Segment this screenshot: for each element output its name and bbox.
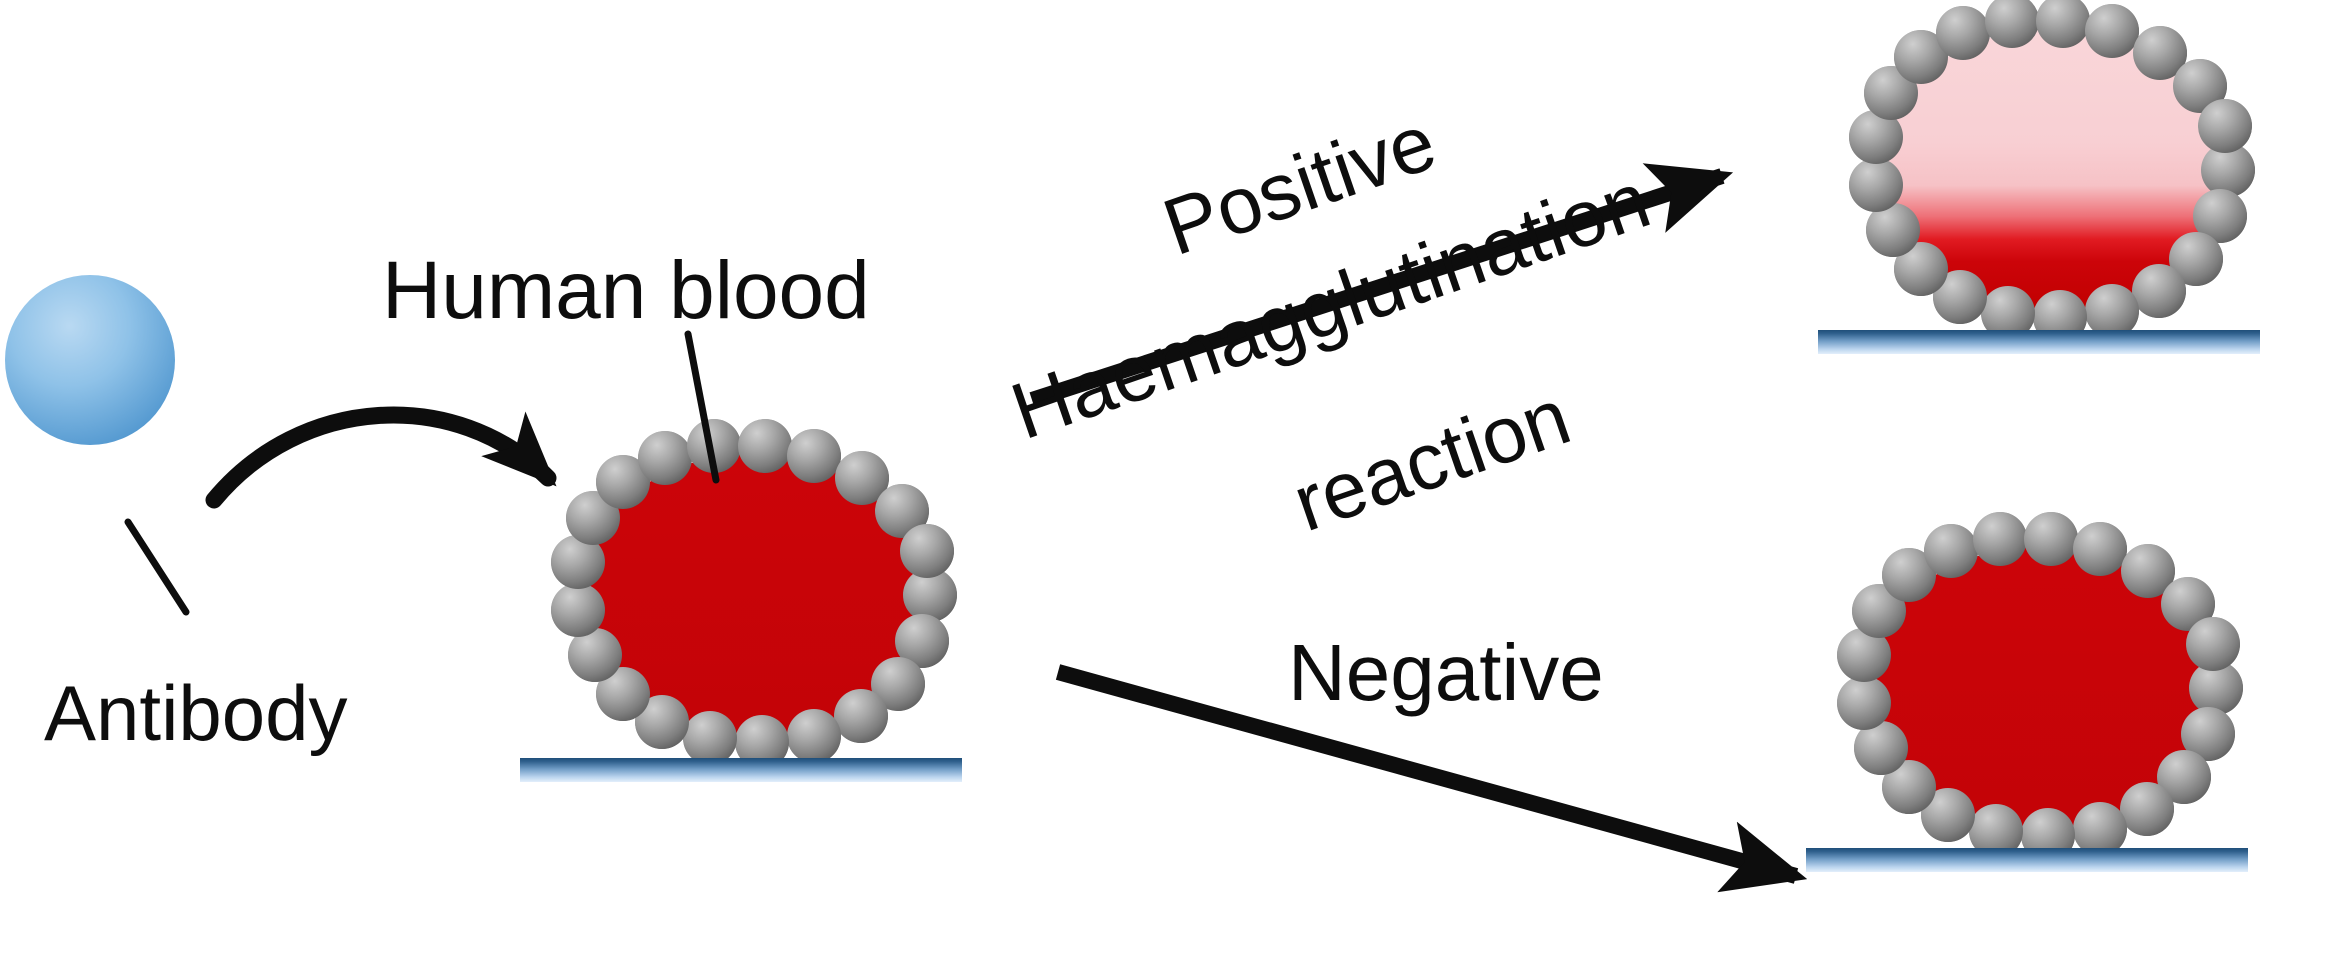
antibody-label: Antibody [44,669,348,757]
haemagglutination-diagram: Antibody [0,0,2341,964]
antibody-group: Antibody [5,275,348,757]
negative-label: Negative [1288,628,1604,717]
figure-canvas: Antibody [0,0,2341,964]
negative-pathway: Negative [1058,628,1796,876]
reaction-label: reaction [1283,371,1581,548]
antibody-leader-line [128,522,186,612]
antibody-particle-icon [5,275,175,445]
human-blood-cell-group: Human blood [382,245,962,782]
glass-slide-negative [1806,848,2248,872]
glass-slide-center [520,758,962,782]
negative-result-group [1806,512,2248,872]
glass-slide-positive [1818,330,2260,354]
positive-pathway: Positive Haemagglutination reaction [1001,97,1722,548]
human-blood-label: Human blood [382,245,870,336]
positive-result-group [1818,0,2260,354]
antibody-binding-arrow [214,415,548,500]
